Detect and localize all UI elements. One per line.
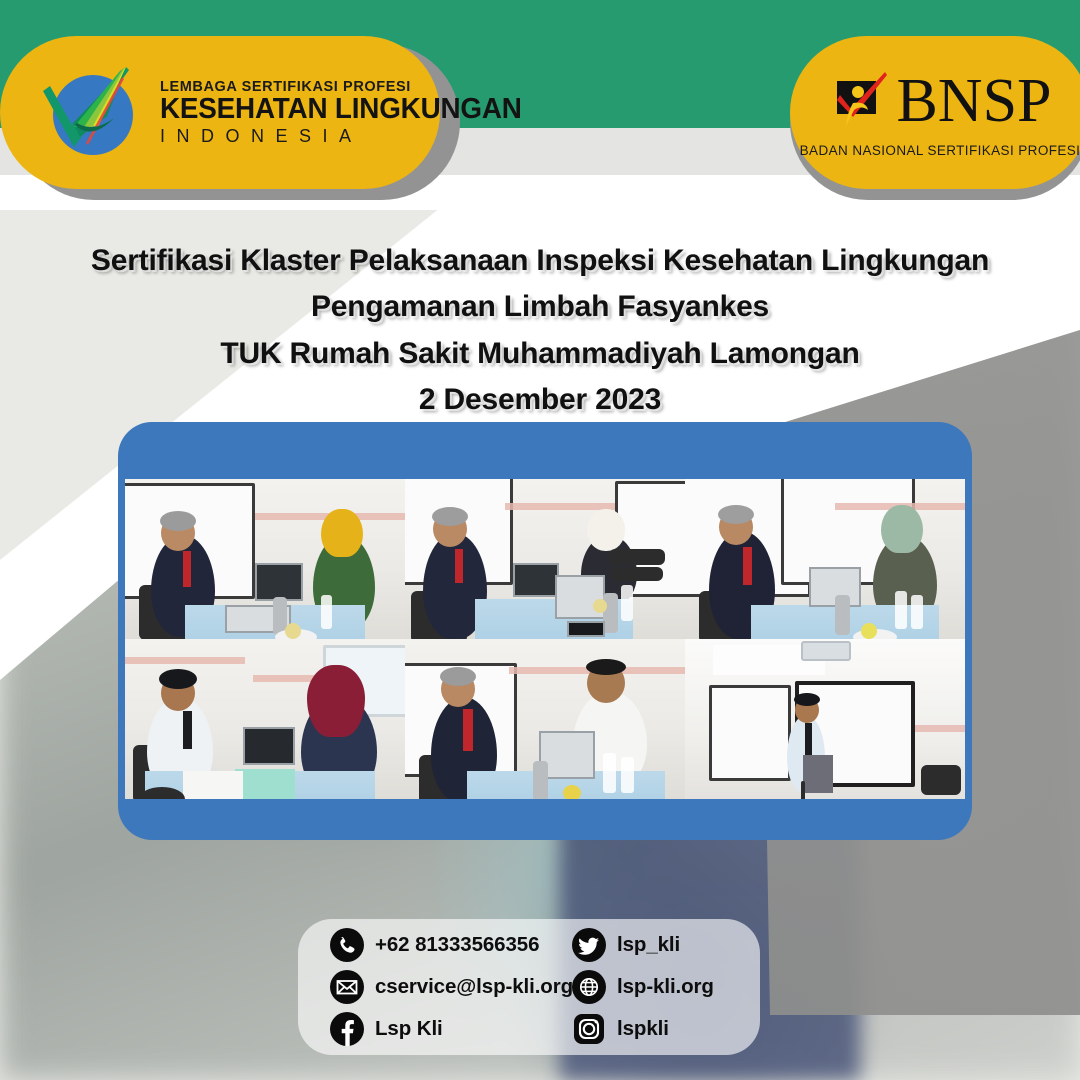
instagram-icon — [572, 1012, 606, 1046]
bnsp-logo-row: BNSP — [828, 68, 1051, 137]
contact-row-instagram[interactable]: lspkli — [572, 1012, 754, 1046]
title-line-1: Sertifikasi Klaster Pelaksanaan Inspeksi… — [0, 243, 1080, 278]
phone-number: +62 81333566356 — [375, 933, 539, 957]
poster-title: Sertifikasi Klaster Pelaksanaan Inspeksi… — [0, 243, 1080, 429]
gallery-photo-2 — [405, 479, 685, 639]
gallery-photo-1 — [125, 479, 405, 639]
gallery-photo-4 — [125, 639, 405, 799]
bnsp-figure-checkmark-logo-icon — [828, 68, 892, 137]
contact-info-panel: +62 81333566356 cservice@lsp-kli.org — [298, 919, 760, 1055]
bnsp-logo-pill: BNSP BADAN NASIONAL SERTIFIKASI PROFESI — [790, 36, 1080, 189]
contact-row-website[interactable]: lsp-kli.org — [572, 970, 754, 1004]
contact-column-left: +62 81333566356 cservice@lsp-kli.org — [304, 928, 572, 1046]
gallery-photo-3 — [685, 479, 965, 639]
website-url: lsp-kli.org — [617, 975, 714, 999]
kli-logo-wordmark: LEMBAGA SERTIFIKASI PROFESI KESEHATAN LI… — [160, 80, 537, 146]
contact-row-twitter[interactable]: lsp_kli — [572, 928, 754, 962]
contact-row-facebook[interactable]: Lsp Kli — [330, 1012, 572, 1046]
bnsp-subtitle: BADAN NASIONAL SERTIFIKASI PROFESI — [800, 143, 1080, 158]
facebook-name: Lsp Kli — [375, 1017, 443, 1041]
phone-icon — [330, 928, 364, 962]
facebook-icon — [330, 1012, 364, 1046]
contact-column-right: lsp_kli lsp-kli.org — [572, 928, 754, 1046]
twitter-handle: lsp_kli — [617, 933, 680, 957]
title-line-3: TUK Rumah Sakit Muhammadiyah Lamongan — [0, 336, 1080, 371]
bnsp-logo-wrap: BNSP BADAN NASIONAL SERTIFIKASI PROFESI — [800, 68, 1080, 158]
instagram-handle: lspkli — [617, 1017, 669, 1041]
photo-collage-frame — [118, 422, 972, 840]
email-address: cservice@lsp-kli.org — [375, 975, 573, 999]
title-line-4: 2 Desember 2023 — [0, 382, 1080, 417]
title-line-2: Pengamanan Limbah Fasyankes — [0, 289, 1080, 324]
twitter-icon — [572, 928, 606, 962]
gallery-photo-6 — [685, 639, 965, 799]
kli-logo-line3: INDONESIA — [160, 127, 537, 145]
contact-row-phone[interactable]: +62 81333566356 — [330, 928, 572, 962]
kli-logo-line2: KESEHATAN LINGKUNGAN — [160, 95, 522, 124]
kli-logo-line1: LEMBAGA SERTIFIKASI PROFESI — [160, 80, 537, 95]
kli-logo-pill: LEMBAGA SERTIFIKASI PROFESI KESEHATAN LI… — [0, 36, 440, 189]
email-icon — [330, 970, 364, 1004]
bnsp-wordmark: BNSP — [896, 74, 1051, 130]
photo-grid — [125, 479, 965, 799]
contact-row-email[interactable]: cservice@lsp-kli.org — [330, 970, 572, 1004]
gallery-photo-5 — [405, 639, 685, 799]
globe-icon — [572, 970, 606, 1004]
kli-checkmark-logo-icon — [30, 61, 150, 165]
poster-canvas: LEMBAGA SERTIFIKASI PROFESI KESEHATAN LI… — [0, 0, 1080, 1080]
